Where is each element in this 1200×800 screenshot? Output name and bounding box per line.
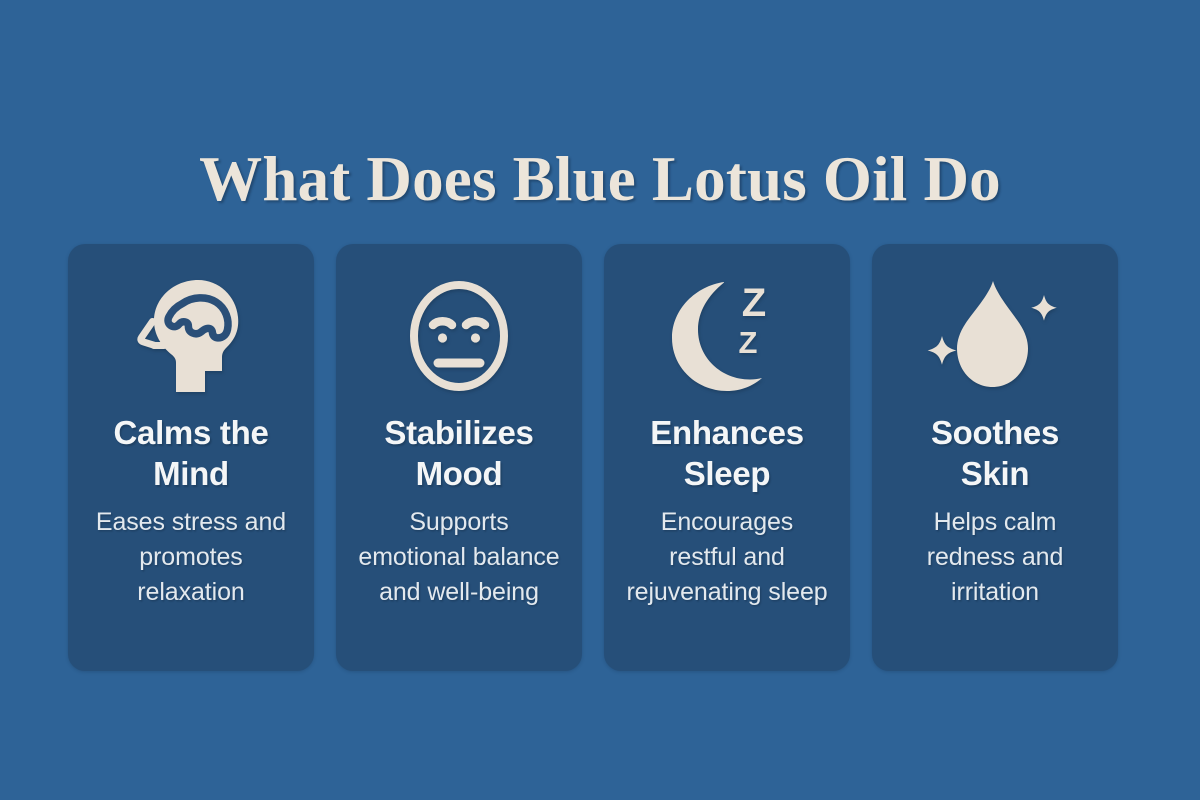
crescent-moon-zzz-icon: Z Z [618,276,836,396]
benefit-card-heading: Enhances Sleep [627,412,827,494]
neutral-face-icon [350,276,568,396]
benefit-card-heading: Stabilizes Mood [359,412,559,494]
benefit-card-calms-the-mind[interactable]: Calms the Mind Eases stress and promotes… [68,244,314,671]
svg-text:Z: Z [742,281,766,325]
benefit-card-body: Helps calm redness and irritation [893,505,1098,610]
svg-text:Z: Z [739,325,758,360]
benefit-card-row: Calms the Mind Eases stress and promotes… [68,244,1118,671]
infographic-canvas: What Does Blue Lotus Oil Do Calms the Mi… [0,0,1200,800]
water-droplet-sparkle-icon [886,276,1104,396]
benefit-card-heading: Soothes Skin [895,412,1095,494]
benefit-card-enhances-sleep[interactable]: Z Z Enhances Sleep Encourages restful an… [604,244,850,671]
benefit-card-soothes-skin[interactable]: Soothes Skin Helps calm redness and irri… [872,244,1118,671]
page-title: What Does Blue Lotus Oil Do [0,142,1200,216]
benefit-card-body: Supports emotional balance and well-bein… [357,505,562,610]
benefit-card-stabilizes-mood[interactable]: Stabilizes Mood Supports emotional balan… [336,244,582,671]
benefit-card-heading: Calms the Mind [91,412,291,494]
benefit-card-body: Encourages restful and rejuvenating slee… [625,505,830,610]
head-with-brain-icon [82,276,300,396]
benefit-card-body: Eases stress and promotes relaxation [89,505,294,610]
